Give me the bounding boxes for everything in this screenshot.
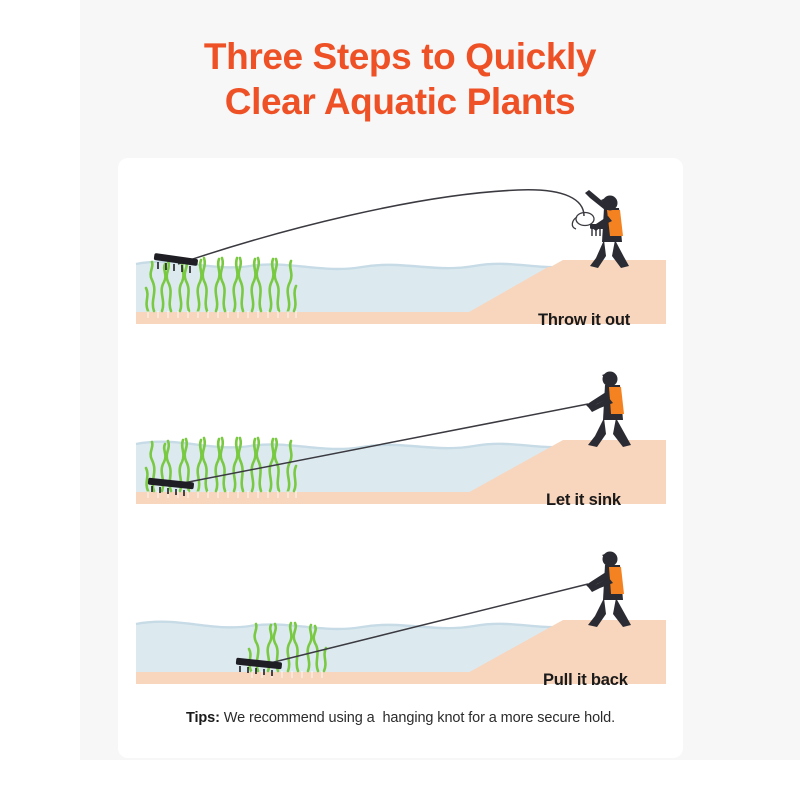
cast-line <box>178 190 584 264</box>
tips-label: Tips: <box>186 710 220 726</box>
steps-card: Throw it out <box>118 158 683 758</box>
angler-figure <box>586 552 631 628</box>
angler-figure <box>586 372 631 448</box>
page-root: Three Steps to Quickly Clear Aquatic Pla… <box>0 0 800 800</box>
step-panel-pull-it-back: Pull it back <box>118 532 683 702</box>
title-line-1: Three Steps to Quickly <box>0 34 800 79</box>
step-label-let-it-sink: Let it sink <box>546 491 621 510</box>
bottom-margin <box>0 760 800 800</box>
step-label-throw-it-out: Throw it out <box>538 311 630 330</box>
page-title: Three Steps to Quickly Clear Aquatic Pla… <box>0 34 800 124</box>
tips-text: We recommend using a hanging knot for a … <box>220 710 615 726</box>
angler-figure <box>585 190 629 268</box>
title-line-2: Clear Aquatic Plants <box>0 79 800 124</box>
tips-row: Tips: We recommend using a hanging knot … <box>118 710 683 726</box>
step-panel-throw-it-out: Throw it out <box>118 172 683 342</box>
step-panel-let-it-sink: Let it sink <box>118 352 683 522</box>
held-gear <box>590 224 606 236</box>
step-label-pull-it-back: Pull it back <box>543 671 628 690</box>
